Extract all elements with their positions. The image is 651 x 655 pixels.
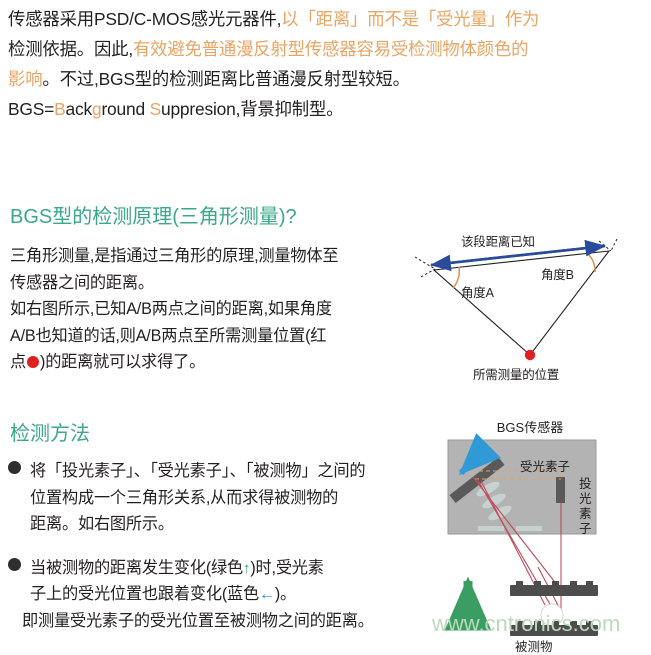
watermark-text: www.cntronics.com xyxy=(432,611,620,637)
method-bullet-span: 将「投光素子」、「受光素子」、「被测物」之间的 xyxy=(30,462,365,480)
emitter-element xyxy=(556,477,565,503)
method-bullet-line: 将「投光素子」、「受光素子」、「被测物」之间的 xyxy=(30,458,418,485)
intro-text: 检测依据。因此, xyxy=(8,39,133,59)
label-angle-b: 角度B xyxy=(541,264,574,283)
intro-accent-text: 影响 xyxy=(8,69,42,89)
intro-line: 传感器采用PSD/C-MOS感光元器件,以「距离」而不是「受光量」作为 xyxy=(8,4,648,34)
method-bullet-span: 即测量受光素子的受光位置至被测物之间的距离。 xyxy=(22,612,374,630)
intro-text: 传感器采用PSD/C-MOS感光元器件, xyxy=(8,9,281,29)
method-bullet-span: 位置构成一个三角形关系,从而求得被测物的 xyxy=(30,489,338,507)
method-bullet-list: 将「投光素子」、「受光素子」、「被测物」之间的位置构成一个三角形关系,从而求得被… xyxy=(8,458,418,651)
left-arrow-icon: ← xyxy=(259,586,275,603)
method-bullet-text: 将「投光素子」、「受光素子」、「被测物」之间的位置构成一个三角形关系,从而求得被… xyxy=(30,458,418,538)
intro-accent-text: 以「距离」而不是「受光量」作为 xyxy=(281,9,539,29)
paragraph-line: 如右图所示,已知A/B两点之间的距离,如果角度 xyxy=(10,296,400,323)
bullet-dot-icon xyxy=(8,461,21,474)
intro-text: 。不过,BGS型的检测距离比普通漫反射型较短。 xyxy=(42,69,409,89)
intro-text: ack xyxy=(66,99,92,119)
intro-line: 影响。不过,BGS型的检测距离比普通漫反射型较短。 xyxy=(8,64,648,94)
angle-a-arc xyxy=(453,267,459,288)
method-bullet-span: )时,受光素 xyxy=(250,559,323,577)
intro-line: 检测依据。因此,有效避免普通漫反射型传感器容易受检测物体颜色的 xyxy=(8,34,648,64)
label-angle-a: 角度A xyxy=(461,282,494,301)
intro-accent-text: B xyxy=(54,99,65,119)
intro-text: uppresion,背景抑制型。 xyxy=(161,99,343,119)
intro-text: BGS= xyxy=(8,99,54,119)
paragraph-line: 三角形测量,是指通过三角形的原理,测量物体至 xyxy=(10,243,400,270)
right-extension-dashes xyxy=(599,239,617,251)
section-heading-principle: BGS型的检测原理(三角形测量)? xyxy=(10,205,297,229)
bgs-sensor-diagram: BGS传感器 xyxy=(430,415,651,651)
triangulation-diagram: 该段距离已知 角度A 角度B 所需测量的位置 xyxy=(395,225,651,385)
intro-accent-text: S xyxy=(150,99,161,119)
method-bullet-span: 当被测物的距离发生变化(绿色 xyxy=(30,559,243,577)
label-target-position: 所需测量的位置 xyxy=(473,364,559,383)
intro-paragraph: 传感器采用PSD/C-MOS感光元器件,以「距离」而不是「受光量」作为检测依据。… xyxy=(8,4,648,124)
method-bullet-line: 子上的受光位置也跟着变化(蓝色←)。 xyxy=(30,581,418,608)
paragraph-line-prefix: 点 xyxy=(10,353,26,371)
method-bullet-text: 当被测物的距离发生变化(绿色↑)时,受光素子上的受光位置也跟着变化(蓝色←)。即… xyxy=(30,555,418,635)
paragraph-line-suffix: )的距离就可以求得了。 xyxy=(40,353,205,371)
target-point-dot xyxy=(525,350,535,360)
method-bullet-line: 当被测物的距离发生变化(绿色↑)时,受光素 xyxy=(30,555,418,582)
paragraph-line: 传感器之间的距离。 xyxy=(10,270,400,297)
method-bullet-line: 位置构成一个三角形关系,从而求得被测物的 xyxy=(30,485,418,512)
method-bullet-item: 当被测物的距离发生变化(绿色↑)时,受光素子上的受光位置也跟着变化(蓝色←)。即… xyxy=(8,555,418,635)
method-bullet-span: 子上的受光位置也跟着变化(蓝色 xyxy=(30,585,259,603)
intro-accent-text: 有效避免普通漫反射型传感器容易受检测物体颜色的 xyxy=(133,39,528,59)
triangle-outline xyxy=(434,251,609,355)
angle-b-arc xyxy=(587,253,595,272)
method-bullet-line: 即测量受光素子的受光位置至被测物之间的距离。 xyxy=(22,608,418,635)
page-root: 传感器采用PSD/C-MOS感光元器件,以「距离」而不是「受光量」作为检测依据。… xyxy=(0,0,651,651)
label-emitter-element: 投光素子 xyxy=(579,477,592,537)
left-extension-dashes xyxy=(415,257,435,277)
red-dot-icon xyxy=(27,356,39,368)
object-near-plate xyxy=(510,585,598,596)
label-receiver-element: 受光素子 xyxy=(520,456,570,475)
intro-line: BGS=Background Suppresion,背景抑制型。 xyxy=(8,94,648,124)
method-bullet-line: 距离。如右图所示。 xyxy=(30,511,418,538)
intro-text: round xyxy=(101,99,149,119)
principle-paragraph: 三角形测量,是指通过三角形的原理,测量物体至 传感器之间的距离。 如右图所示,已… xyxy=(10,243,400,376)
method-bullet-span: )。 xyxy=(275,585,296,603)
label-known-distance: 该段距离已知 xyxy=(461,231,535,250)
section-heading-method: 检测方法 xyxy=(10,422,90,446)
paragraph-line-with-dot: 点)的距离就可以求得了。 xyxy=(10,349,400,376)
label-measured-object: 被测物 xyxy=(515,636,553,655)
paragraph-line: A/B也知道的话,则A/B两点至所需测量位置(红 xyxy=(10,323,400,350)
method-bullet-span: 距离。如右图所示。 xyxy=(30,515,174,533)
method-bullet-item: 将「投光素子」、「受光素子」、「被测物」之间的位置构成一个三角形关系,从而求得被… xyxy=(8,458,418,538)
bullet-dot-icon xyxy=(8,558,21,571)
